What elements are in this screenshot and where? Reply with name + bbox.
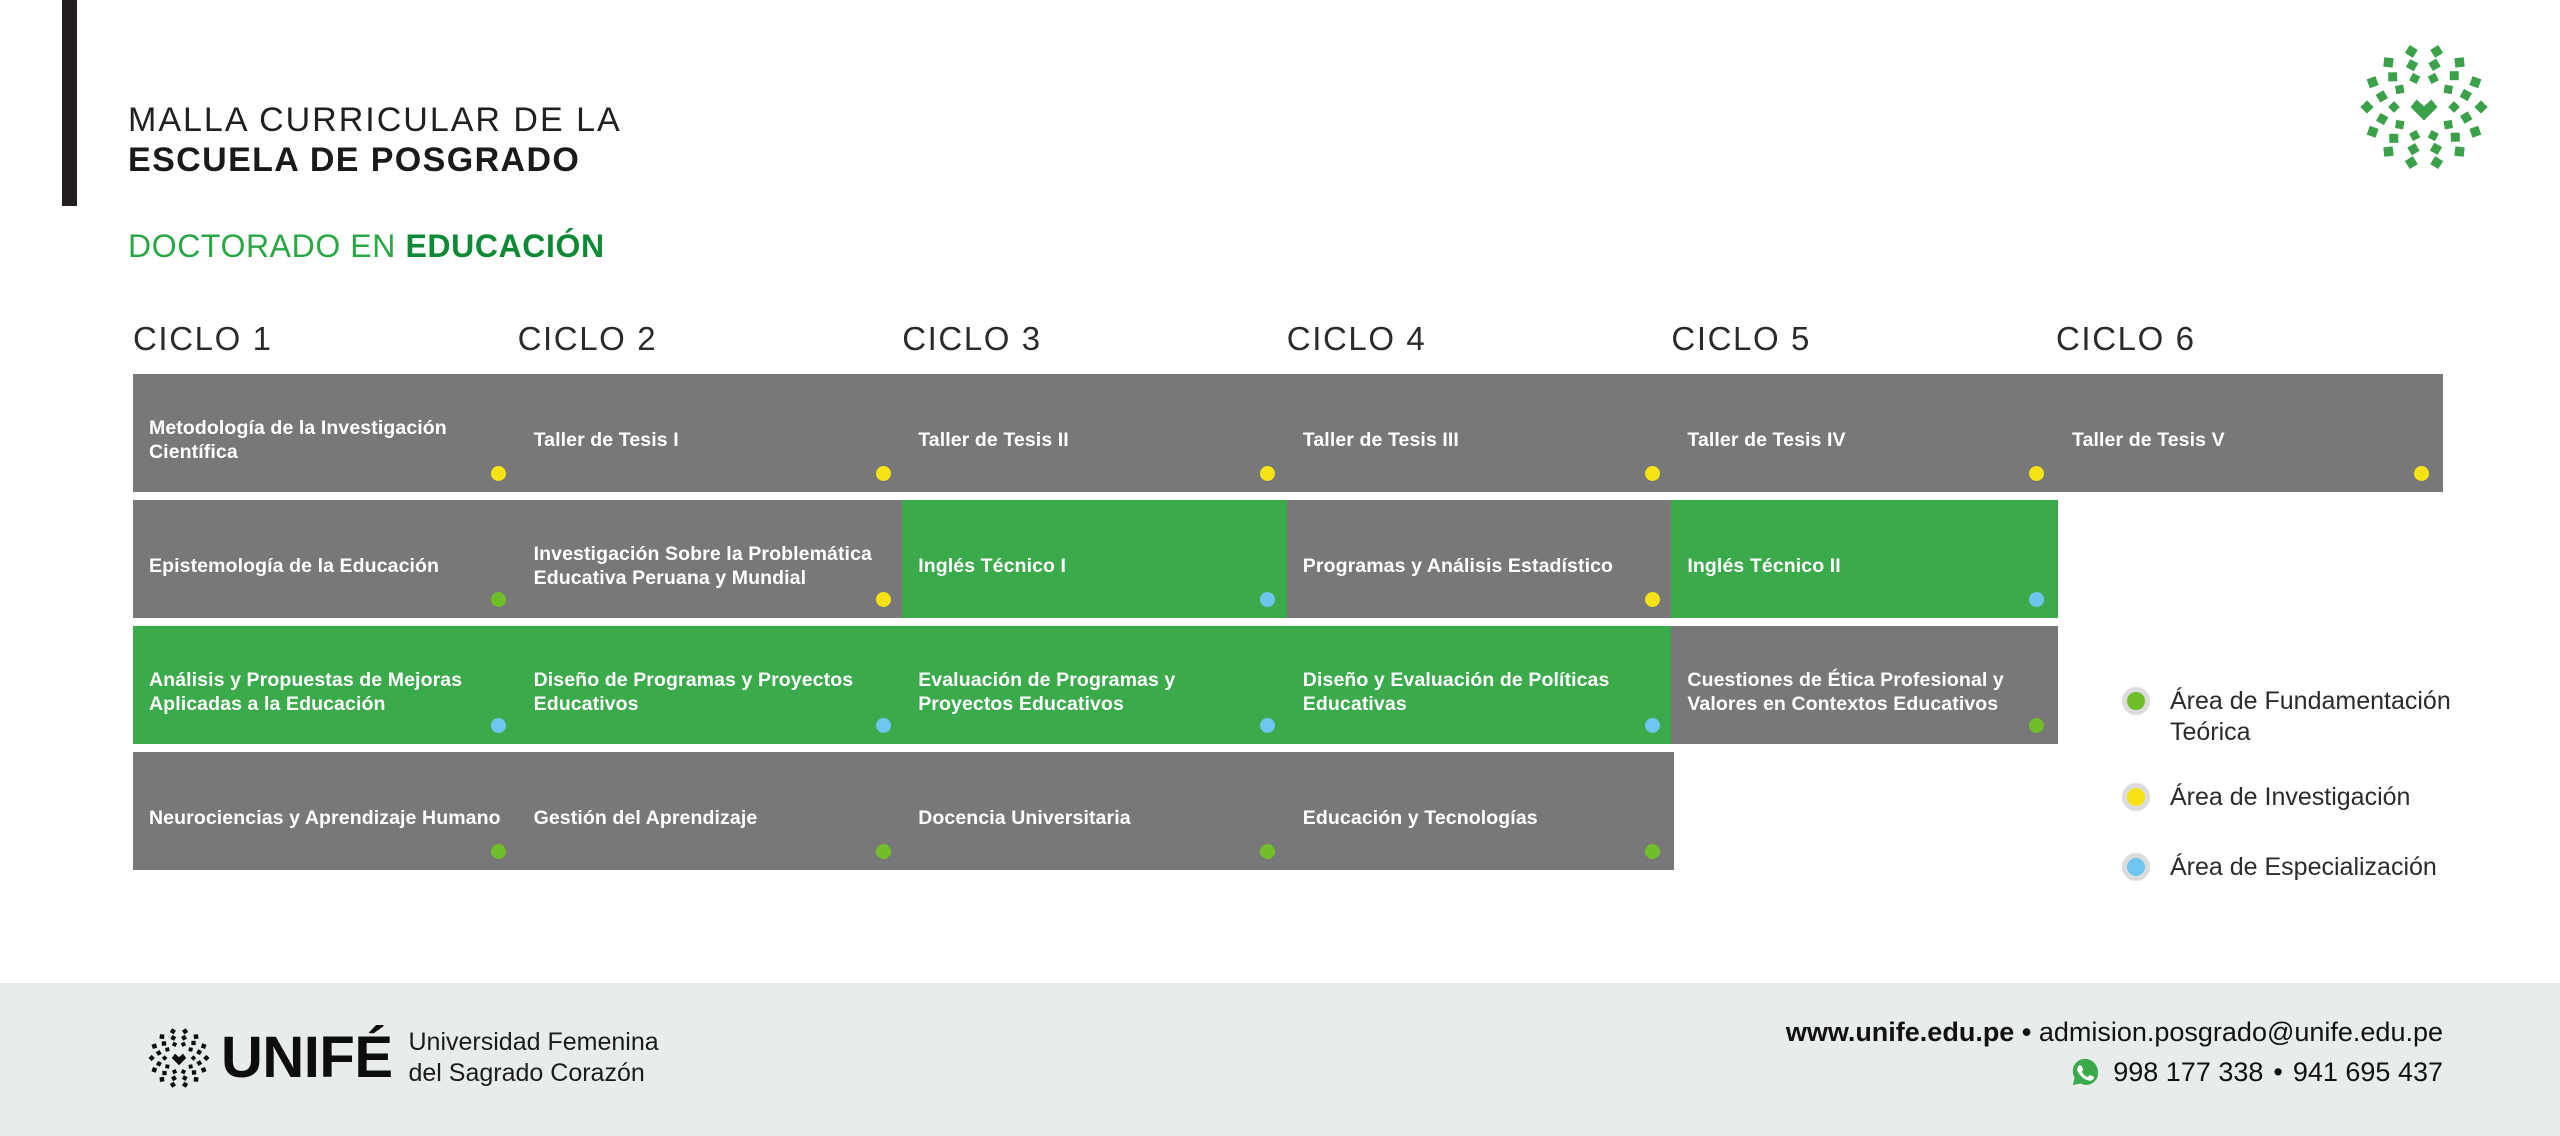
phone-number-2[interactable]: 941 695 437 <box>2293 1053 2443 1091</box>
course-card[interactable]: Diseño de Programas y Proyectos Educativ… <box>518 626 905 744</box>
course-title: Cuestiones de Ética Profesional y Valore… <box>1687 668 2040 716</box>
area-dot-green <box>491 844 506 859</box>
whatsapp-icon <box>2070 1057 2100 1087</box>
course-title: Taller de Tesis III <box>1303 428 1656 452</box>
area-dot-green <box>491 592 506 607</box>
course-card[interactable]: Diseño y Evaluación de Políticas Educati… <box>1287 626 1674 744</box>
course-title: Diseño y Evaluación de Políticas Educati… <box>1303 668 1656 716</box>
program-title-prefix: DOCTORADO EN <box>128 228 405 264</box>
course-title: Gestión del Aprendizaje <box>534 806 887 830</box>
cycle-column-3: CICLO 3Taller de Tesis IIInglés Técnico … <box>902 318 1289 878</box>
cycle-column-4: CICLO 4Taller de Tesis IIIProgramas y An… <box>1287 318 1674 878</box>
footer-logo-group: UNIFÉ Universidad Femenina del Sagrado C… <box>143 1022 659 1094</box>
course-card[interactable]: Inglés Técnico II <box>1671 500 2058 618</box>
course-card[interactable]: Inglés Técnico I <box>902 500 1289 618</box>
area-dot-yellow <box>1645 466 1660 481</box>
area-dot-yellow <box>2414 466 2429 481</box>
area-dot-blue <box>1260 592 1275 607</box>
area-dot-yellow <box>876 592 891 607</box>
course-title: Taller de Tesis V <box>2072 428 2425 452</box>
contact-separator: • <box>2022 1017 2031 1047</box>
unife-flower-logo-icon <box>143 1022 215 1094</box>
contact-line-phone: 998 177 338 • 941 695 437 <box>1786 1053 2443 1091</box>
area-dot-yellow <box>2029 466 2044 481</box>
website-link[interactable]: www.unife.edu.pe <box>1786 1017 2015 1047</box>
course-title: Taller de Tesis IV <box>1687 428 2040 452</box>
course-title: Programas y Análisis Estadístico <box>1303 554 1656 578</box>
email-link[interactable]: admision.posgrado@unife.edu.pe <box>2039 1017 2443 1047</box>
area-dot-yellow <box>1645 592 1660 607</box>
course-title: Metodología de la Investigación Científi… <box>149 416 502 464</box>
course-title: Inglés Técnico I <box>918 554 1271 578</box>
area-dot-green <box>1645 844 1660 859</box>
area-dot-yellow <box>491 466 506 481</box>
course-card[interactable]: Docencia Universitaria <box>902 752 1289 870</box>
course-title: Análisis y Propuestas de Mejoras Aplicad… <box>149 668 502 716</box>
course-card[interactable]: Taller de Tesis IV <box>1671 374 2058 492</box>
cycle-heading: CICLO 4 <box>1287 318 1674 374</box>
cycle-grid: CICLO 1Metodología de la Investigación C… <box>133 318 2443 958</box>
legend: Área de Fundamentación TeóricaÁrea de In… <box>2122 686 2542 922</box>
area-dot-blue <box>876 718 891 733</box>
cycle-heading: CICLO 6 <box>2056 318 2443 374</box>
phone-separator: • <box>2273 1053 2282 1091</box>
cycle-heading: CICLO 5 <box>1671 318 2058 374</box>
course-card[interactable]: Taller de Tesis I <box>518 374 905 492</box>
area-dot-blue <box>2029 592 2044 607</box>
course-title: Investigación Sobre la Problemática Educ… <box>534 542 887 590</box>
cycle-column-1: CICLO 1Metodología de la Investigación C… <box>133 318 520 878</box>
cycle-heading: CICLO 2 <box>518 318 905 374</box>
course-card[interactable]: Taller de Tesis II <box>902 374 1289 492</box>
header-accent-bar <box>62 0 77 206</box>
legend-label: Área de Fundamentación Teórica <box>2170 686 2500 748</box>
legend-row: Área de Investigación <box>2122 782 2542 818</box>
unife-flower-logo-icon <box>2334 32 2514 182</box>
page-title-line-1: MALLA CURRICULAR DE LA <box>128 100 1028 140</box>
contact-line-web: www.unife.edu.pe • admision.posgrado@uni… <box>1786 1013 2443 1051</box>
cycle-heading: CICLO 3 <box>902 318 1289 374</box>
footer-subtitle: Universidad Femenina del Sagrado Corazón <box>409 1027 659 1089</box>
course-card[interactable]: Gestión del Aprendizaje <box>518 752 905 870</box>
program-title-name: EDUCACIÓN <box>405 228 604 264</box>
course-card[interactable]: Análisis y Propuestas de Mejoras Aplicad… <box>133 626 520 744</box>
legend-row: Área de Especialización <box>2122 852 2542 888</box>
footer-wordmark: UNIFÉ <box>221 1027 393 1089</box>
course-card[interactable]: Neurociencias y Aprendizaje Humano <box>133 752 520 870</box>
course-title: Epistemología de la Educación <box>149 554 502 578</box>
course-title: Educación y Tecnologías <box>1303 806 1656 830</box>
area-dot-blue <box>1645 718 1660 733</box>
area-dot-green <box>876 844 891 859</box>
course-card[interactable]: Cuestiones de Ética Profesional y Valore… <box>1671 626 2058 744</box>
course-title: Evaluación de Programas y Proyectos Educ… <box>918 668 1271 716</box>
course-card[interactable]: Educación y Tecnologías <box>1287 752 1674 870</box>
page-title-line-2: ESCUELA DE POSGRADO <box>128 140 1028 180</box>
course-card[interactable]: Taller de Tesis V <box>2056 374 2443 492</box>
course-title: Docencia Universitaria <box>918 806 1271 830</box>
course-title: Diseño de Programas y Proyectos Educativ… <box>534 668 887 716</box>
legend-swatch-green-icon <box>2122 687 2150 715</box>
area-dot-green <box>2029 718 2044 733</box>
area-dot-blue <box>491 718 506 733</box>
area-dot-green <box>1260 844 1275 859</box>
course-card[interactable]: Epistemología de la Educación <box>133 500 520 618</box>
cycle-column-6: CICLO 6Taller de Tesis V <box>2056 318 2443 500</box>
footer-subtitle-line-1: Universidad Femenina <box>409 1027 659 1058</box>
area-dot-yellow <box>876 466 891 481</box>
course-title: Neurociencias y Aprendizaje Humano <box>149 806 502 830</box>
legend-swatch-blue-icon <box>2122 853 2150 881</box>
course-card[interactable]: Programas y Análisis Estadístico <box>1287 500 1674 618</box>
course-title: Taller de Tesis I <box>534 428 887 452</box>
course-title: Inglés Técnico II <box>1687 554 2040 578</box>
legend-row: Área de Fundamentación Teórica <box>2122 686 2542 748</box>
course-card[interactable]: Investigación Sobre la Problemática Educ… <box>518 500 905 618</box>
course-card[interactable]: Metodología de la Investigación Científi… <box>133 374 520 492</box>
course-card[interactable]: Evaluación de Programas y Proyectos Educ… <box>902 626 1289 744</box>
legend-label: Área de Investigación <box>2170 782 2410 813</box>
area-dot-yellow <box>1260 466 1275 481</box>
cycle-column-5: CICLO 5Taller de Tesis IVInglés Técnico … <box>1671 318 2058 752</box>
page-title: MALLA CURRICULAR DE LA ESCUELA DE POSGRA… <box>128 100 1028 180</box>
program-title: DOCTORADO EN EDUCACIÓN <box>128 228 605 264</box>
legend-label: Área de Especialización <box>2170 852 2437 883</box>
course-title: Taller de Tesis II <box>918 428 1271 452</box>
cycle-heading: CICLO 1 <box>133 318 520 374</box>
cycle-column-2: CICLO 2Taller de Tesis IInvestigación So… <box>518 318 905 878</box>
footer-subtitle-line-2: del Sagrado Corazón <box>409 1058 659 1089</box>
footer-contact: www.unife.edu.pe • admision.posgrado@uni… <box>1786 1013 2443 1091</box>
legend-swatch-yellow-icon <box>2122 783 2150 811</box>
area-dot-blue <box>1260 718 1275 733</box>
phone-number-1[interactable]: 998 177 338 <box>2113 1053 2263 1091</box>
course-card[interactable]: Taller de Tesis III <box>1287 374 1674 492</box>
